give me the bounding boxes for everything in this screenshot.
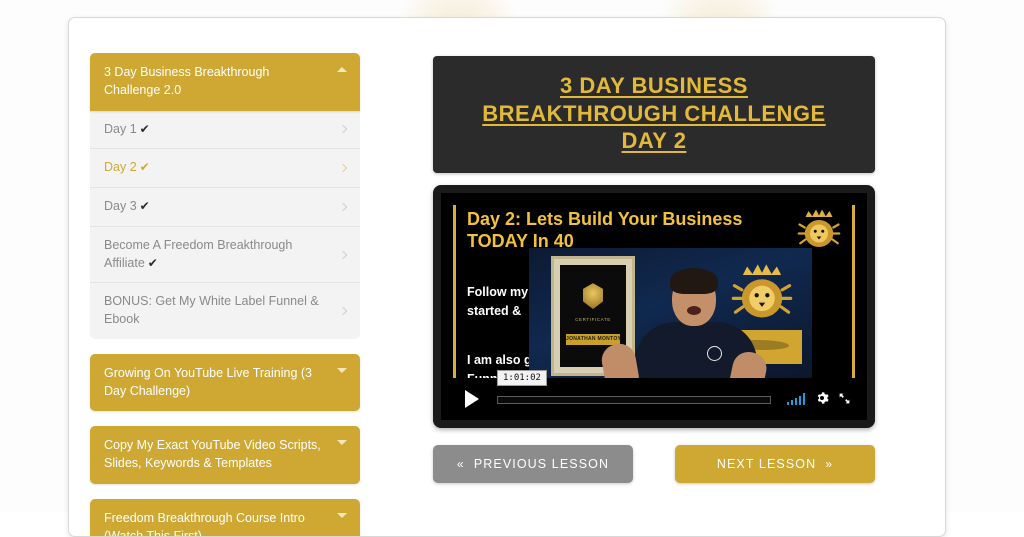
chevron-right-icon bbox=[339, 164, 347, 172]
video-controls-bar[interactable]: 1:01:02 bbox=[441, 378, 867, 420]
accordion-header-challenge[interactable]: 3 Day Business Breakthrough Challenge 2.… bbox=[90, 53, 360, 111]
caret-down-icon bbox=[337, 368, 347, 373]
accordion-body: Day 1✔ Day 2✔ Day 3✔ Become A Freedom Br… bbox=[90, 111, 360, 339]
lesson-main-content: 3 DAY BUSINESS BREAKTHROUGH CHALLENGE DA… bbox=[433, 56, 875, 483]
certificate-label: CERTIFICATE bbox=[560, 317, 626, 322]
video-player[interactable]: Day 2: Lets Build Your Business TODAY In… bbox=[433, 185, 875, 428]
chevron-right-icon bbox=[339, 203, 347, 211]
slide-paragraph-1: Follow my started & bbox=[467, 283, 528, 321]
slide-heading: Day 2: Lets Build Your Business TODAY In… bbox=[467, 209, 797, 253]
presenter-hair bbox=[670, 268, 718, 294]
chevron-right-icon bbox=[339, 250, 347, 258]
lesson-item-bonus-white-label[interactable]: BONUS: Get My White Label Funnel & Ebook bbox=[90, 283, 360, 339]
lesson-item-day-2[interactable]: Day 2✔ bbox=[90, 149, 360, 188]
presenter-name: JONATHAN MONTOYA bbox=[566, 334, 620, 345]
next-lesson-button[interactable]: NEXT LESSON » bbox=[675, 445, 875, 483]
completed-check-icon: ✔ bbox=[140, 199, 150, 213]
completed-check-icon: ✔ bbox=[140, 160, 150, 174]
course-content-card: 3 Day Business Breakthrough Challenge 2.… bbox=[68, 17, 946, 537]
accordion-title: 3 Day Business Breakthrough Challenge 2.… bbox=[104, 65, 269, 97]
accordion-header-video-scripts[interactable]: Copy My Exact YouTube Video Scripts, Sli… bbox=[90, 426, 360, 484]
lesson-label: Day 3 bbox=[104, 199, 137, 213]
certificate-badge-icon bbox=[583, 283, 603, 309]
gear-icon[interactable] bbox=[815, 391, 829, 405]
chevron-right-icon bbox=[339, 307, 347, 315]
lesson-label: Day 1 bbox=[104, 122, 137, 136]
accordion-title: Copy My Exact YouTube Video Scripts, Sli… bbox=[104, 438, 321, 470]
lesson-item-day-3[interactable]: Day 3✔ bbox=[90, 188, 360, 227]
accordion-header-course-intro[interactable]: Freedom Breakthrough Course Intro (Watch… bbox=[90, 499, 360, 537]
completed-check-icon: ✔ bbox=[148, 256, 158, 270]
lesson-label: Day 2 bbox=[104, 160, 137, 174]
previous-lesson-button[interactable]: « PREVIOUS LESSON bbox=[433, 445, 633, 483]
completed-check-icon: ✔ bbox=[140, 122, 150, 136]
lesson-label: BONUS: Get My White Label Funnel & Ebook bbox=[104, 294, 319, 326]
accordion-section: Growing On YouTube Live Training (3 Day … bbox=[90, 354, 360, 412]
accordion-section: Freedom Breakthrough Course Intro (Watch… bbox=[90, 499, 360, 537]
title-line-2: BREAKTHROUGH CHALLENGE bbox=[447, 100, 861, 128]
play-icon[interactable] bbox=[465, 390, 479, 408]
lion-crown-logo-icon bbox=[795, 205, 843, 253]
expand-icon[interactable] bbox=[838, 392, 851, 405]
lesson-navigation: « PREVIOUS LESSON NEXT LESSON » bbox=[433, 445, 875, 483]
accordion-section: Copy My Exact YouTube Video Scripts, Sli… bbox=[90, 426, 360, 484]
chevron-double-left-icon: « bbox=[457, 457, 465, 471]
lesson-title-banner: 3 DAY BUSINESS BREAKTHROUGH CHALLENGE DA… bbox=[433, 56, 875, 173]
title-line-1: 3 DAY BUSINESS bbox=[447, 72, 861, 100]
lion-crown-logo-icon bbox=[728, 258, 796, 326]
caret-down-icon bbox=[337, 513, 347, 518]
lesson-item-become-affiliate[interactable]: Become A Freedom Breakthrough Affiliate✔ bbox=[90, 227, 360, 284]
accordion-title: Freedom Breakthrough Course Intro (Watch… bbox=[104, 511, 305, 537]
accordion-title: Growing On YouTube Live Training (3 Day … bbox=[104, 366, 312, 398]
accordion-section: 3 Day Business Breakthrough Challenge 2.… bbox=[90, 53, 360, 339]
chevron-right-icon bbox=[339, 125, 347, 133]
video-timestamp: 1:01:02 bbox=[497, 370, 547, 386]
lesson-item-day-1[interactable]: Day 1✔ bbox=[90, 111, 360, 150]
caret-down-icon bbox=[337, 440, 347, 445]
accordion-header-youtube-live-training[interactable]: Growing On YouTube Live Training (3 Day … bbox=[90, 354, 360, 412]
course-curriculum-sidebar: 3 Day Business Breakthrough Challenge 2.… bbox=[90, 53, 360, 537]
video-progress-bar[interactable] bbox=[497, 396, 771, 404]
certificate-nameplate: JONATHAN MONTOYA bbox=[566, 334, 620, 345]
video-viewport[interactable]: Day 2: Lets Build Your Business TODAY In… bbox=[441, 193, 867, 420]
caret-up-icon bbox=[337, 67, 347, 72]
chevron-double-right-icon: » bbox=[825, 457, 833, 471]
volume-bars-icon[interactable] bbox=[787, 392, 806, 405]
previous-lesson-label: PREVIOUS LESSON bbox=[474, 457, 609, 471]
title-line-3: DAY 2 bbox=[447, 127, 861, 155]
lesson-label: Become A Freedom Breakthrough Affiliate bbox=[104, 238, 292, 270]
next-lesson-label: NEXT LESSON bbox=[717, 457, 816, 471]
